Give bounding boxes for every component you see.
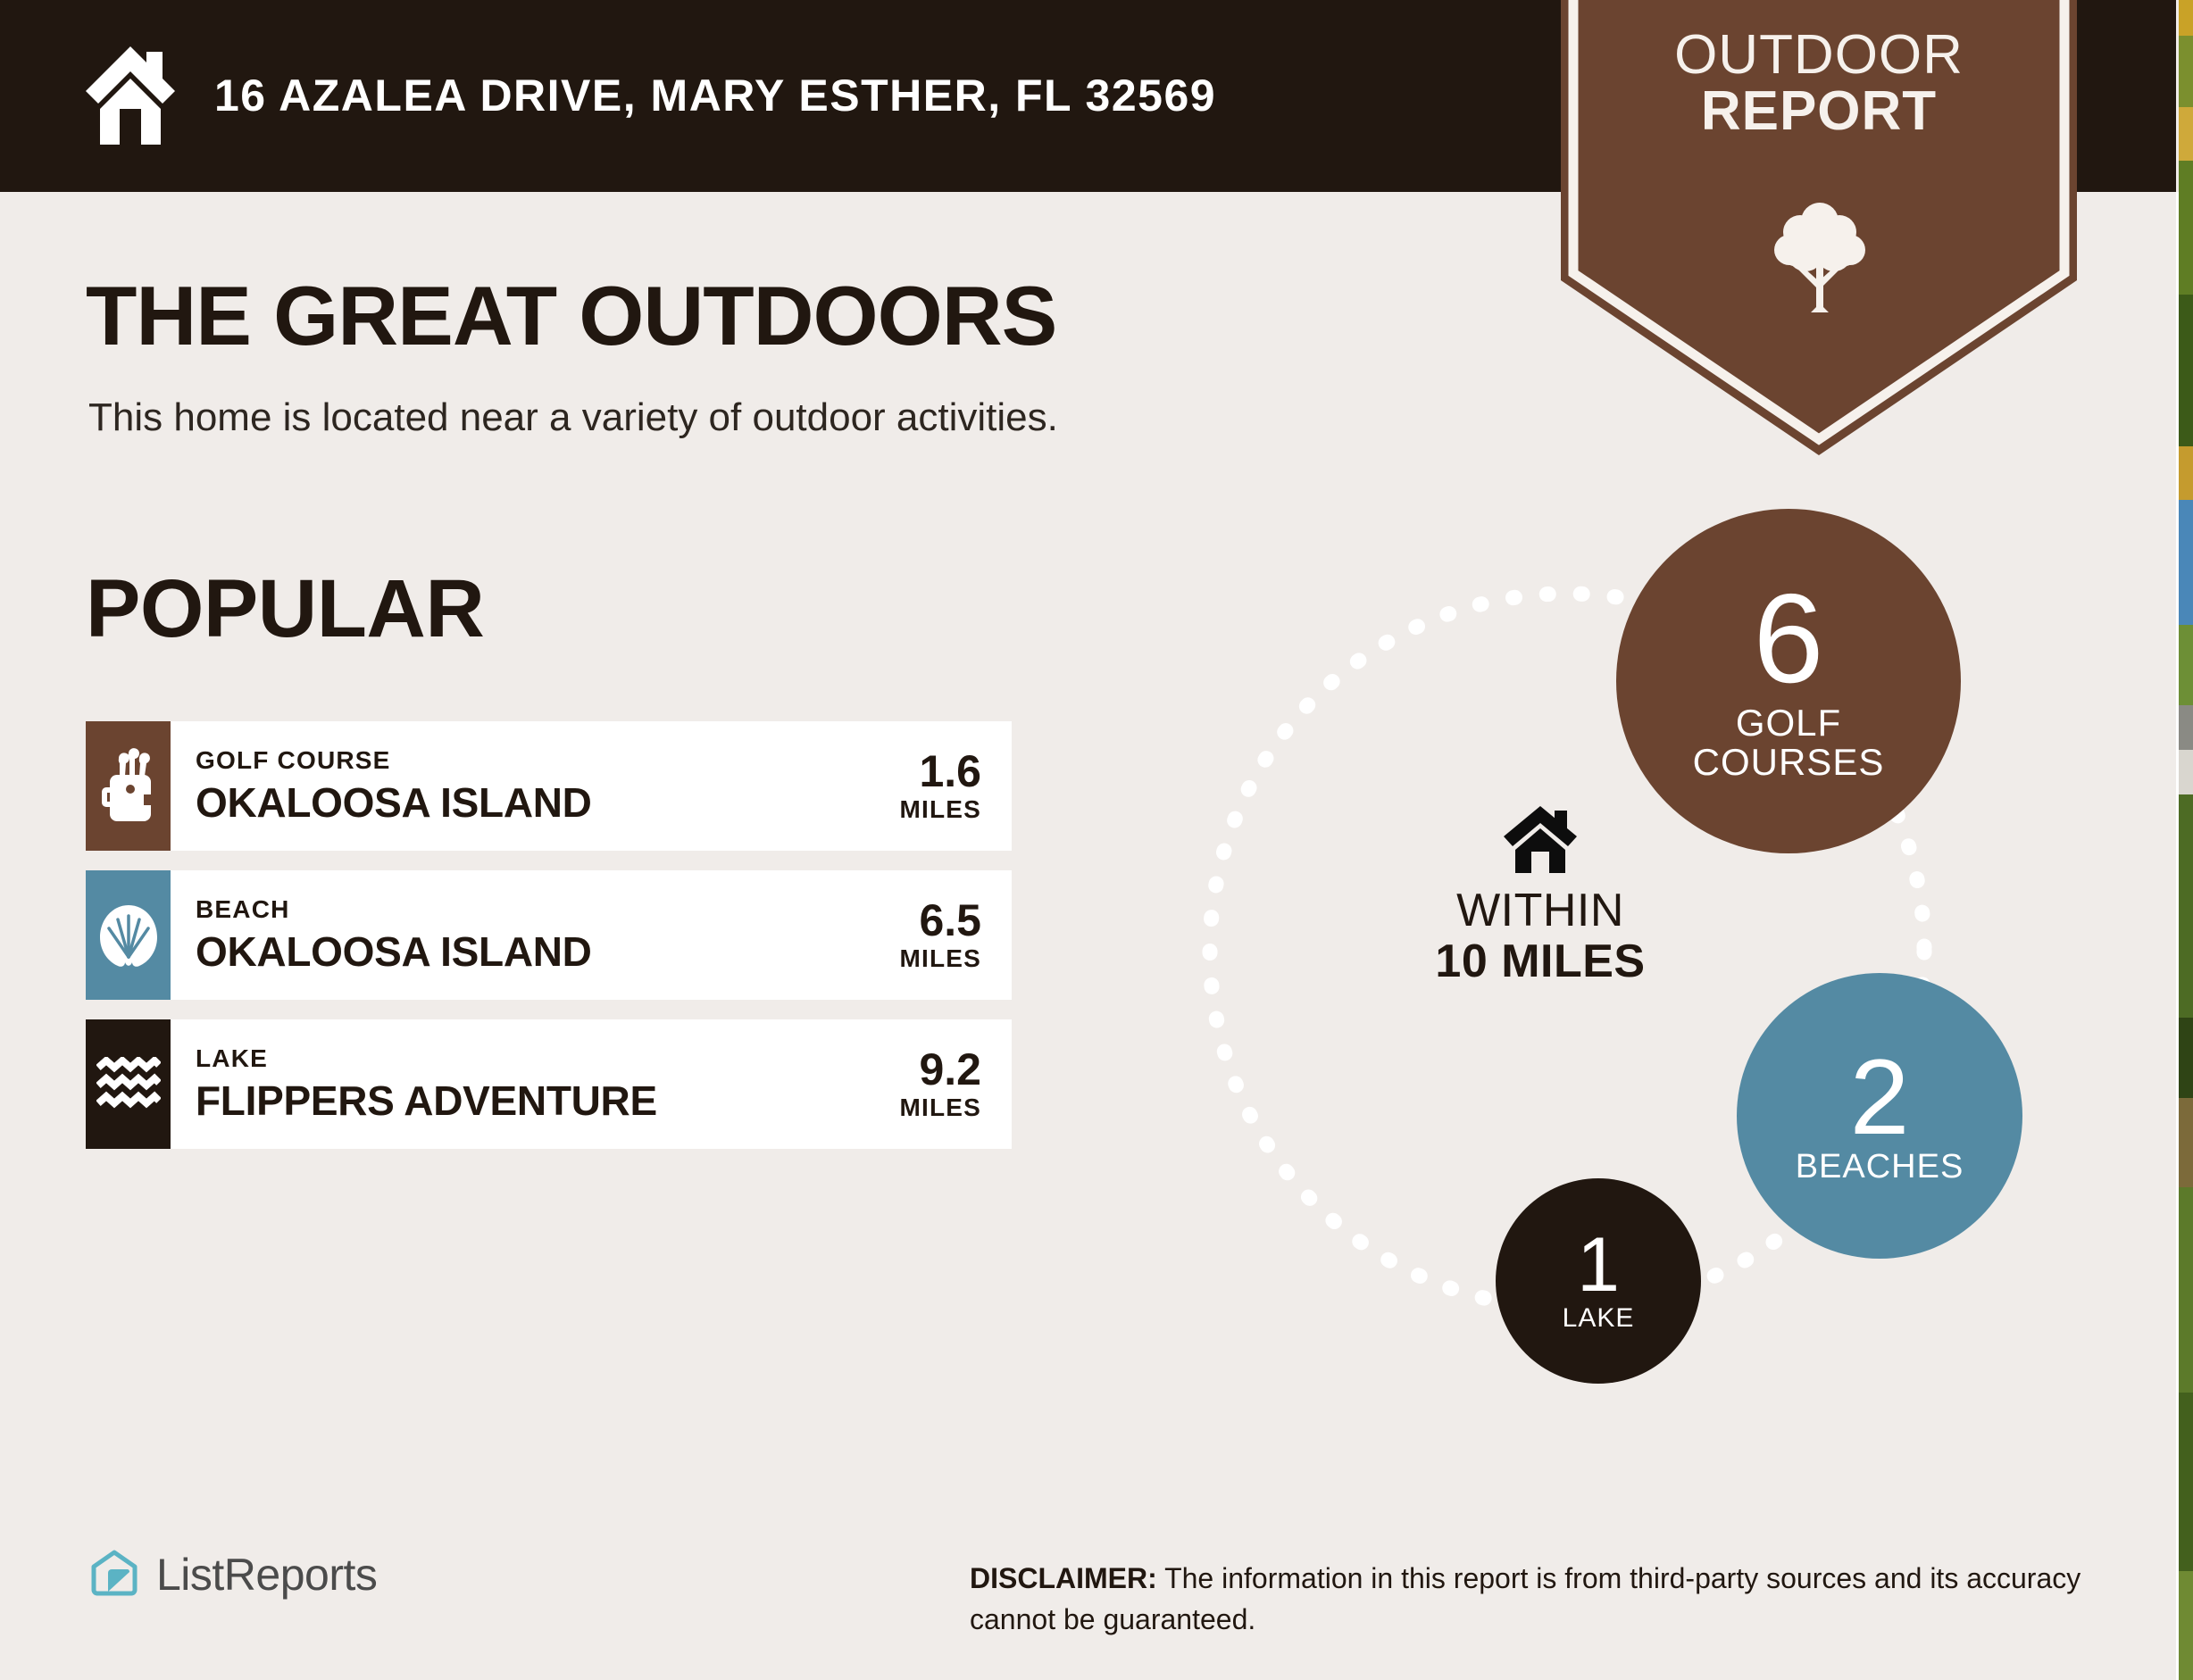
house-icon — [82, 43, 179, 148]
list-item-category: LAKE — [196, 1044, 657, 1073]
bubble-label: GOLF COURSES — [1693, 703, 1885, 782]
list-item-name: FLIPPERS ADVENTURE — [196, 1077, 657, 1125]
badge-title-line2: REPORT — [1561, 83, 2077, 139]
bubble-count: 2 — [1850, 1046, 1910, 1148]
distance-unit: MILES — [899, 944, 981, 973]
waves-icon — [86, 1019, 171, 1149]
distance-value: 6.5 — [899, 897, 981, 944]
seashell-icon — [86, 870, 171, 1000]
bubble-label-line1: GOLF — [1693, 703, 1885, 743]
list-item-labels: LAKE FLIPPERS ADVENTURE — [196, 1044, 657, 1125]
list-item[interactable]: BEACH OKALOOSA ISLAND 6.5 MILES — [86, 870, 1012, 1000]
list-item-body: GOLF COURSE OKALOOSA ISLAND 1.6 MILES — [171, 721, 1012, 851]
page-title: THE GREAT OUTDOORS — [86, 268, 1056, 364]
bubble-label: BEACHES — [1796, 1150, 1964, 1185]
tree-icon — [1773, 198, 1866, 316]
bubble-lake[interactable]: 1 LAKE — [1496, 1178, 1701, 1384]
list-item-name: OKALOOSA ISLAND — [196, 927, 592, 976]
list-item[interactable]: LAKE FLIPPERS ADVENTURE 9.2 MILES — [86, 1019, 1012, 1149]
section-title-popular: POPULAR — [86, 562, 484, 656]
list-item-distance: 1.6 MILES — [899, 748, 981, 824]
list-item-labels: GOLF COURSE OKALOOSA ISLAND — [196, 746, 592, 827]
list-item[interactable]: GOLF COURSE OKALOOSA ISLAND 1.6 MILES — [86, 721, 1012, 851]
bubble-golf-courses[interactable]: 6 GOLF COURSES — [1616, 509, 1961, 853]
bubble-count: 6 — [1754, 579, 1824, 700]
center-label-line2: 10 MILES — [1388, 936, 1692, 987]
outdoor-report-page: 16 AZALEA DRIVE, MARY ESTHER, FL 32569 O… — [0, 0, 2193, 1680]
disclaimer: DISCLAIMER: The information in this repo… — [970, 1558, 2104, 1641]
list-item-category: GOLF COURSE — [196, 746, 592, 775]
orbit-center-label: WITHIN 10 MILES — [1388, 803, 1692, 987]
list-item-category: BEACH — [196, 895, 592, 924]
badge-title: OUTDOOR REPORT — [1561, 27, 2077, 139]
bubble-label-line2: COURSES — [1693, 743, 1885, 782]
bubble-count: 1 — [1577, 1229, 1620, 1302]
list-item-name: OKALOOSA ISLAND — [196, 778, 592, 827]
golf-bag-icon — [86, 721, 171, 851]
list-item-body: BEACH OKALOOSA ISLAND 6.5 MILES — [171, 870, 1012, 1000]
distance-unit: MILES — [899, 795, 981, 824]
page-subtitle: This home is located near a variety of o… — [88, 395, 1058, 440]
list-item-distance: 6.5 MILES — [899, 897, 981, 973]
listreports-wordmark: ListReports — [156, 1549, 377, 1601]
center-label-line1: WITHIN — [1388, 886, 1692, 936]
distance-unit: MILES — [899, 1094, 981, 1122]
distance-value: 9.2 — [899, 1046, 981, 1094]
list-item-distance: 9.2 MILES — [899, 1046, 981, 1122]
property-address: 16 AZALEA DRIVE, MARY ESTHER, FL 32569 — [214, 70, 1216, 121]
bubble-label: LAKE — [1563, 1304, 1635, 1333]
bubble-beaches[interactable]: 2 BEACHES — [1737, 973, 2022, 1259]
list-item-body: LAKE FLIPPERS ADVENTURE 9.2 MILES — [171, 1019, 1012, 1149]
disclaimer-label: DISCLAIMER: — [970, 1562, 1157, 1594]
popular-list: GOLF COURSE OKALOOSA ISLAND 1.6 MILES — [86, 721, 1012, 1169]
report-badge: OUTDOOR REPORT — [1561, 0, 2077, 457]
distance-value: 1.6 — [899, 748, 981, 795]
amenities-bubble-chart: 6 GOLF COURSES 2 BEACHES 1 LAKE WITHIN — [1161, 500, 2188, 1437]
list-item-labels: BEACH OKALOOSA ISLAND — [196, 895, 592, 976]
listreports-house-icon — [88, 1549, 140, 1601]
badge-title-line1: OUTDOOR — [1561, 27, 2077, 83]
house-icon — [1501, 803, 1580, 875]
listreports-logo[interactable]: ListReports — [88, 1549, 377, 1601]
